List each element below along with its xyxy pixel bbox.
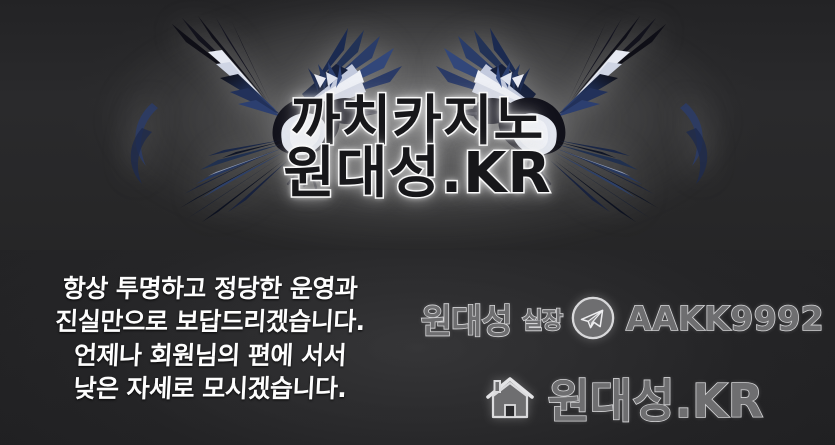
slogan-line-1: 항상 투명하고 정당한 운영과 [13, 272, 407, 305]
site-contact-row[interactable]: 원대성.KR [410, 362, 835, 434]
contact-block: 원대성 실장 AAKK9992 [410, 270, 835, 445]
lower-section: 항상 투명하고 정당한 운영과 진실만으로 보답드리겠습니다. 언제나 회원님의… [0, 250, 835, 445]
manager-name: 원대성 [421, 294, 512, 343]
slogan-block: 항상 투명하고 정당한 운영과 진실만으로 보답드리겠습니다. 언제나 회원님의… [14, 272, 406, 405]
magpie-illustration-left [112, 8, 442, 223]
manager-role: 실장 [522, 301, 562, 335]
hero-section: 까치카지노 원대성.KR [0, 0, 835, 250]
casino-promo-banner: 까치카지노 원대성.KR 항상 투명하고 정당한 운영과 진실만으로 보답드리겠… [0, 0, 835, 445]
slogan-line-2: 진실만으로 보답드리겠습니다. [13, 305, 407, 338]
telegram-handle: AAKK9992 [626, 299, 824, 338]
manager-contact-row[interactable]: 원대성 실장 AAKK9992 [410, 292, 835, 344]
magpie-illustration-right [396, 8, 726, 223]
slogan-line-4: 낮은 자세로 모시겠습니다. [13, 372, 407, 405]
site-domain: 원대성.KR [548, 365, 764, 431]
telegram-icon[interactable] [570, 295, 616, 341]
home-icon[interactable] [482, 372, 538, 424]
slogan-line-3: 언제나 회원님의 편에 서서 [13, 339, 407, 372]
